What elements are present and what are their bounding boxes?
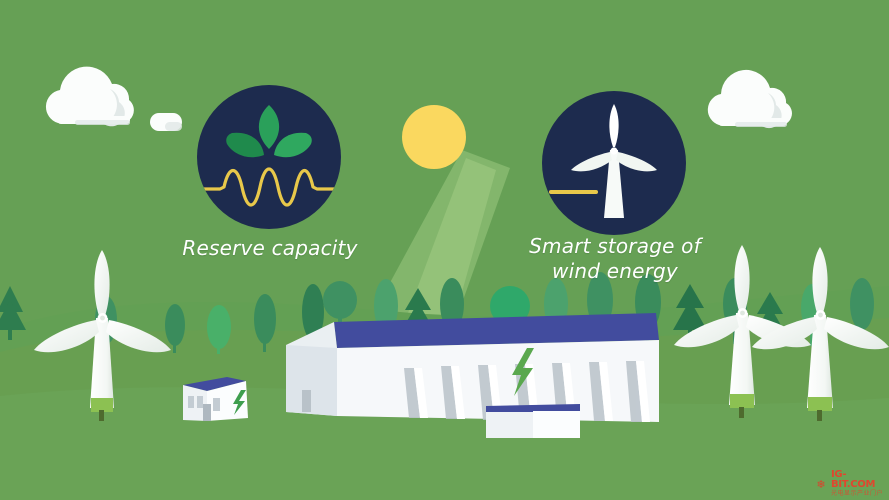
watermark-text: IG-BIT.COM 光电显示产业门户 (831, 470, 886, 498)
scene-canvas (0, 0, 889, 500)
smart-storage-icon-circle[interactable] (542, 91, 686, 235)
small-house[interactable] (183, 377, 248, 421)
watermark-sub: 光电显示产业门户 (831, 490, 886, 498)
label-reserve-capacity: Reserve capacity (160, 236, 380, 261)
illustration-scene: Reserve capacity Smart storage of wind e… (0, 0, 889, 500)
sun-icon (402, 105, 466, 169)
label-smart-storage: Smart storage of wind energy (505, 234, 725, 284)
battery-container[interactable] (486, 404, 580, 438)
reserve-capacity-icon-circle[interactable] (197, 85, 341, 229)
watermark: ❄ IG-BIT.COM 光电显示产业门户 (812, 471, 886, 497)
small-cloud-icon-left (150, 113, 182, 131)
watermark-main: IG-BIT.COM (831, 470, 886, 490)
flame-logo-icon: ❄ (812, 475, 830, 493)
energy-storage-warehouse[interactable] (286, 313, 659, 422)
